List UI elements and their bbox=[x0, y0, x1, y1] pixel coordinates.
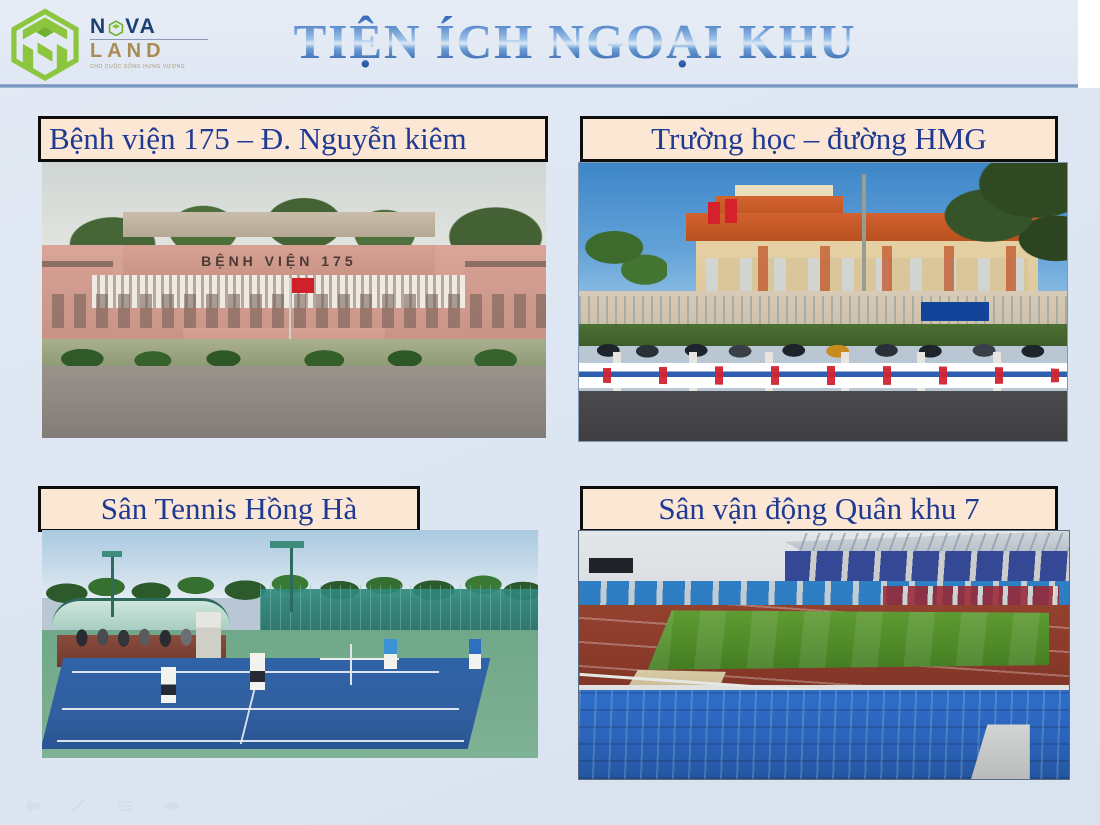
road bbox=[42, 366, 546, 438]
slideshow-toolbar[interactable] bbox=[22, 797, 182, 815]
window-row bbox=[42, 294, 546, 327]
left-arrow-icon[interactable] bbox=[22, 797, 44, 815]
court-line-outer bbox=[57, 740, 464, 742]
logo-nova-text: N VA bbox=[90, 16, 214, 37]
logo-tagline: CHO CUỘC SỐNG HƯNG VƯỢNG bbox=[90, 64, 214, 70]
floodlight-head-2 bbox=[270, 541, 304, 548]
logo-nova-n: N bbox=[90, 16, 107, 37]
caption-school: Trường học – đường HMG bbox=[580, 116, 1058, 162]
photo-tennis bbox=[42, 530, 538, 758]
player-3 bbox=[384, 639, 397, 669]
pen-icon[interactable] bbox=[68, 797, 90, 815]
player-2 bbox=[250, 653, 265, 689]
photo-school-scene bbox=[579, 163, 1067, 441]
pitch-mow-stripes bbox=[648, 610, 1050, 670]
page-title: TIỆN ÍCH NGOẠI KHU bbox=[255, 8, 895, 76]
logo-land-text: LAND bbox=[90, 41, 214, 62]
header-right-strip bbox=[1078, 0, 1100, 88]
vietnam-flag bbox=[292, 278, 314, 293]
right-tree bbox=[930, 162, 1068, 296]
flag-2 bbox=[725, 199, 737, 223]
spectators bbox=[67, 621, 216, 648]
logo-o-cube-icon bbox=[108, 20, 124, 36]
photo-stadium bbox=[578, 530, 1070, 780]
right-arrow-icon[interactable] bbox=[160, 797, 182, 815]
caption-tennis: Sân Tennis Hồng Hà bbox=[38, 486, 420, 532]
floodlight-pole-1 bbox=[111, 553, 114, 617]
presentation-slide: N VA LAND CHO CUỘC SỐNG HƯNG VƯỢNG TIỆN … bbox=[0, 0, 1100, 825]
photo-school bbox=[578, 162, 1068, 442]
caption-stadium: Sân vận động Quân khu 7 bbox=[580, 486, 1058, 532]
photo-hospital: BỆNH VIỆN 175 bbox=[42, 162, 546, 438]
net-post bbox=[350, 644, 352, 685]
roof-structure bbox=[123, 212, 435, 237]
blue-signboard bbox=[921, 302, 989, 321]
logo-nova-va: VA bbox=[125, 16, 157, 37]
novaland-logo: N VA LAND CHO CUỘC SỐNG HƯNG VƯỢNG bbox=[6, 4, 216, 84]
logo-wordmark: N VA LAND CHO CUỘC SỐNG HƯNG VƯỢNG bbox=[90, 16, 214, 70]
photo-tennis-scene bbox=[42, 530, 538, 758]
menu-lines-icon[interactable] bbox=[114, 797, 136, 815]
photo-stadium-scene bbox=[579, 531, 1069, 779]
floodlight-pole-2 bbox=[290, 544, 293, 612]
fence-mesh bbox=[260, 585, 538, 635]
caption-hospital: Bệnh viện 175 – Đ. Nguyễn kiêm bbox=[38, 116, 548, 162]
photo-hospital-scene: BỆNH VIỆN 175 bbox=[42, 162, 546, 438]
scoreboard bbox=[589, 558, 633, 573]
header-divider bbox=[0, 84, 1078, 88]
slide-header: N VA LAND CHO CUỘC SỐNG HƯNG VƯỢNG TIỆN … bbox=[0, 0, 1100, 86]
player-4 bbox=[469, 639, 482, 669]
nova-land-cube-logo bbox=[8, 6, 82, 82]
road bbox=[579, 391, 1067, 441]
player-1 bbox=[161, 667, 176, 703]
bollard-reflectors bbox=[579, 366, 1067, 385]
floodlight-head-1 bbox=[102, 551, 122, 557]
flag-1 bbox=[708, 202, 720, 224]
court-line-baseline bbox=[62, 708, 459, 710]
hospital-sign-text: BỆNH VIỆN 175 bbox=[133, 248, 425, 276]
